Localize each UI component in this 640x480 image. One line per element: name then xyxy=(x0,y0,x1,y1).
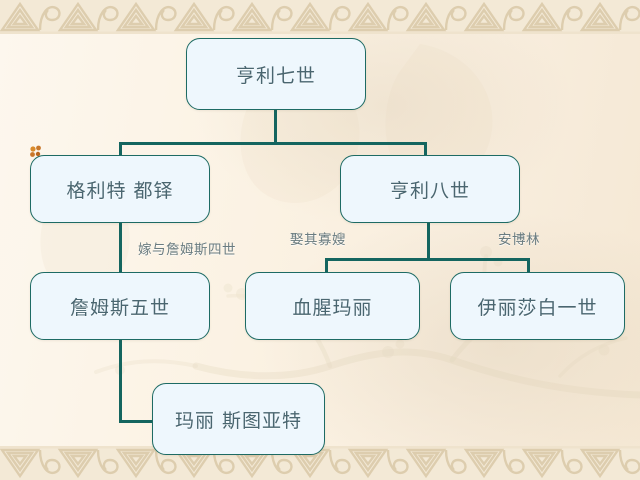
node-james5-label: 詹姆斯五世 xyxy=(70,293,170,320)
node-henry8[interactable]: 亨利八世 xyxy=(340,155,520,223)
connector-james5-stem xyxy=(119,340,122,423)
edge-label-anne-boleyn: 安博林 xyxy=(498,228,540,248)
node-margaret-tudor[interactable]: 格利特 都铎 xyxy=(30,155,210,223)
node-henry7[interactable]: 亨利七世 xyxy=(186,38,366,110)
connector-henry7-stem xyxy=(274,110,277,145)
node-bloody-mary[interactable]: 血腥玛丽 xyxy=(245,272,420,340)
node-elizabeth1-label: 伊丽莎白一世 xyxy=(477,293,597,320)
node-mary-stuart[interactable]: 玛丽 斯图亚特 xyxy=(152,383,325,455)
slide-canvas: 亨利七世 格利特 都铎 亨利八世 詹姆斯五世 血腥玛丽 伊丽莎白一世 玛丽 斯图… xyxy=(0,0,640,480)
node-mary-stuart-label: 玛丽 斯图亚特 xyxy=(175,406,302,433)
edge-label-married-james4: 嫁与詹姆斯四世 xyxy=(138,238,236,258)
connector-margaret-to-james5 xyxy=(119,223,122,273)
connector-to-henry8 xyxy=(424,142,427,156)
edge-label-married-widowed-sister-in-law: 娶其寡嫂 xyxy=(290,228,346,248)
node-margaret-tudor-label: 格利特 都铎 xyxy=(66,176,173,203)
node-henry7-label: 亨利七世 xyxy=(236,61,316,88)
node-james5[interactable]: 詹姆斯五世 xyxy=(30,272,210,340)
connector-to-mary1 xyxy=(325,258,328,273)
connector-row3-bus xyxy=(325,258,530,261)
node-elizabeth1[interactable]: 伊丽莎白一世 xyxy=(450,272,625,340)
node-bloody-mary-label: 血腥玛丽 xyxy=(292,293,372,320)
connector-row2-bus xyxy=(119,142,427,145)
connector-to-margaret xyxy=(119,142,122,156)
node-henry8-label: 亨利八世 xyxy=(390,176,470,203)
connector-henry8-stem xyxy=(427,223,430,260)
top-decorative-border xyxy=(0,0,640,34)
flower-dots-ornament xyxy=(28,144,44,160)
connector-to-elizabeth xyxy=(527,258,530,273)
